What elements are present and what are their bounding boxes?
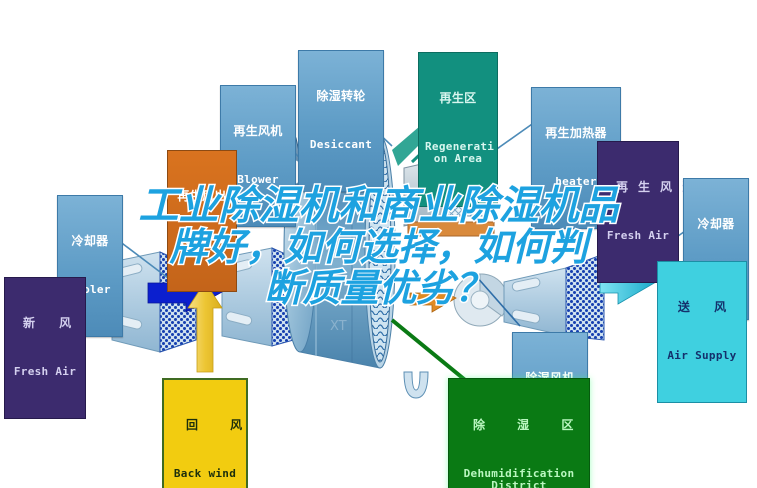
- label-back-wind-cn: 回 风: [172, 419, 238, 432]
- label-air-supply-cn: 送 风: [666, 301, 738, 314]
- label-back-wind[interactable]: 回 风 Back wind: [162, 378, 248, 488]
- label-back-wind-en: Back wind: [172, 468, 238, 480]
- label-fresh-air-in-cn: 新 风: [13, 317, 77, 330]
- label-desiccant-wheel[interactable]: 除湿转轮 Desiccant: [298, 50, 384, 192]
- label-regeneration-heater-cn: 再生加热器: [538, 127, 614, 140]
- condensate-drain: [404, 372, 428, 398]
- label-regeneration-area-en: Regenerati on Area: [425, 141, 491, 166]
- label-dehumidification-district[interactable]: 除 湿 区 Dehumidification District: [448, 378, 590, 488]
- label-dehumidification-district-en: Dehumidification District: [459, 468, 579, 488]
- label-regeneration-air-out-en: Exhaust: [174, 239, 230, 251]
- label-cooler-right-cn: 冷却器: [690, 218, 742, 231]
- label-regeneration-area[interactable]: 再生区 Regenerati on Area: [418, 52, 498, 207]
- diagram-canvas: XT: [0, 0, 757, 488]
- label-fresh-air-in-en: Fresh Air: [13, 366, 77, 378]
- label-desiccant-wheel-en: Desiccant: [305, 139, 377, 151]
- label-regeneration-air-out[interactable]: 再生风出 Exhaust: [167, 150, 237, 292]
- label-regeneration-air-in-en: Fresh Air: [606, 230, 670, 242]
- dehumidifying-blower-housing: [454, 268, 566, 336]
- svg-text:XT: XT: [330, 319, 347, 334]
- label-air-supply[interactable]: 送 风 Air Supply: [657, 261, 747, 403]
- label-regeneration-air-in-cn: 再生风进: [606, 181, 670, 194]
- label-dehumidification-district-cn: 除 湿 区: [459, 419, 579, 432]
- label-air-supply-en: Air Supply: [666, 350, 738, 362]
- label-regeneration-area-cn: 再生区: [425, 92, 491, 105]
- label-regeneration-blower-cn: 再生风机: [227, 125, 289, 138]
- label-desiccant-wheel-cn: 除湿转轮: [305, 90, 377, 103]
- label-fresh-air-in[interactable]: 新 风 Fresh Air: [4, 277, 86, 419]
- label-cooler-left-cn: 冷却器: [64, 235, 116, 248]
- blower-arrow: [410, 286, 456, 312]
- label-regeneration-air-out-cn: 再生风出: [174, 190, 230, 203]
